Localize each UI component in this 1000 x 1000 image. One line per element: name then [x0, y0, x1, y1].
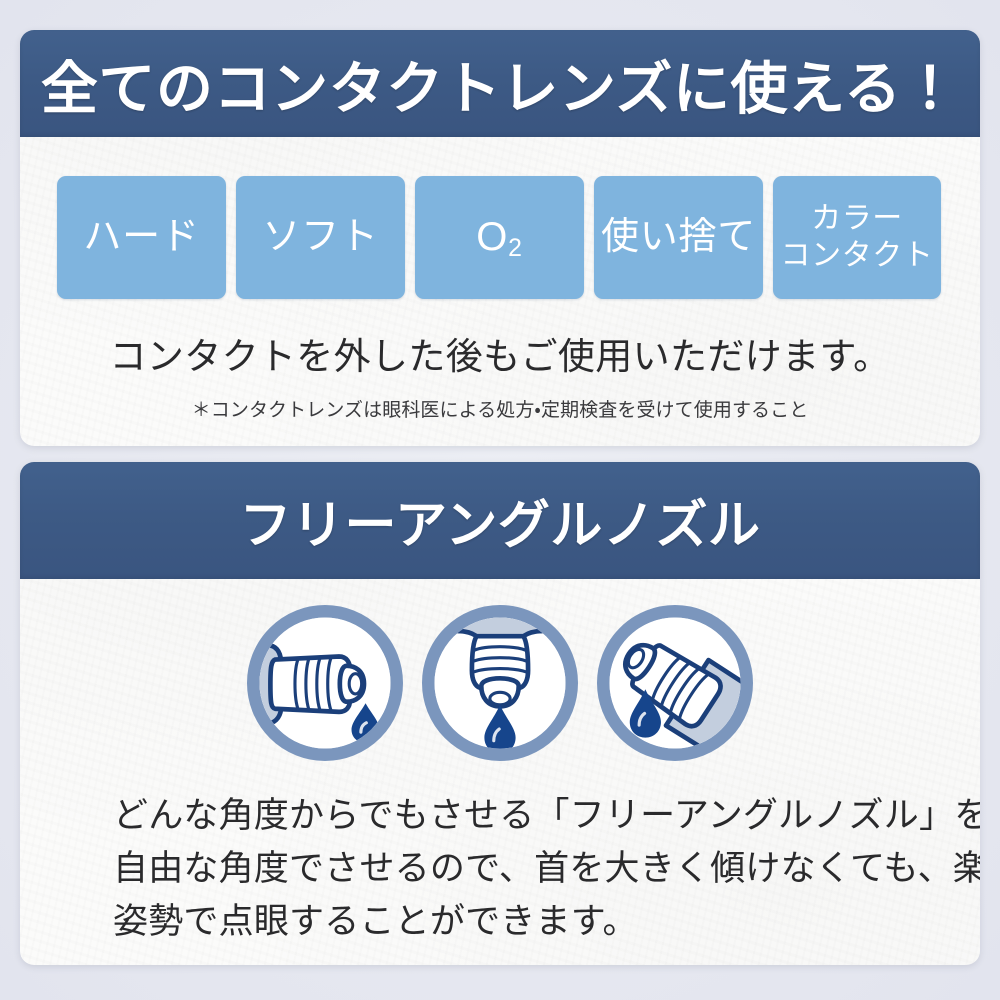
lens-main-text: コンタクトを外した後もご使用いただけます。 [20, 326, 980, 380]
tag-color-contact: カラーコンタクト [773, 176, 941, 299]
infographic-page: 全てのコンタクトレンズに使える！ ハード ソフト O2 使い捨て カラーコンタク… [0, 0, 1000, 1000]
tag-hard: ハード [57, 176, 226, 299]
tag-soft-label: ソフト [262, 217, 378, 258]
nozzle-illustration-row [20, 605, 980, 761]
tag-disposable-label: 使い捨て [601, 217, 756, 258]
tag-soft: ソフト [236, 176, 405, 299]
nozzle-tilted-icon [597, 605, 753, 761]
lens-card-title: 全てのコンタクトレンズに使える！ [41, 43, 959, 125]
lens-type-tag-row: ハード ソフト O2 使い捨て カラーコンタクト [20, 137, 980, 299]
nozzle-description-line-3: 姿勢で点眼することができます。 [113, 895, 980, 948]
nozzle-card-header-band: フリーアングルノズル [20, 462, 980, 579]
nozzle-card-title: フリーアングルノズル [239, 483, 760, 558]
nozzle-description-line-2: 自由な角度でさせるので、首を大きく傾けなくても、楽な [113, 842, 980, 895]
tag-o2-label: O2 [476, 216, 523, 259]
tag-o2-subscript: 2 [508, 235, 523, 262]
lens-compatibility-card: 全てのコンタクトレンズに使える！ ハード ソフト O2 使い捨て カラーコンタク… [20, 30, 980, 446]
tag-o2: O2 [415, 176, 584, 299]
lens-footnote: ＊コンタクトレンズは眼科医による処方・定期検査を受けて使用すること [20, 395, 980, 422]
nozzle-description-line-1: どんな角度からでもさせる「フリーアングルノズル」を採用。 [113, 789, 980, 842]
tag-disposable: 使い捨て [594, 176, 763, 299]
tag-hard-label: ハード [83, 217, 199, 258]
tag-color-contact-label: カラーコンタクト [781, 201, 934, 274]
nozzle-description: どんな角度からでもさせる「フリーアングルノズル」を採用。 自由な角度でさせるので… [20, 789, 980, 949]
nozzle-horizontal-icon [247, 605, 403, 761]
nozzle-downward-icon [422, 605, 578, 761]
free-angle-nozzle-card: フリーアングルノズル [20, 462, 980, 965]
lens-card-header-band: 全てのコンタクトレンズに使える！ [20, 30, 980, 137]
